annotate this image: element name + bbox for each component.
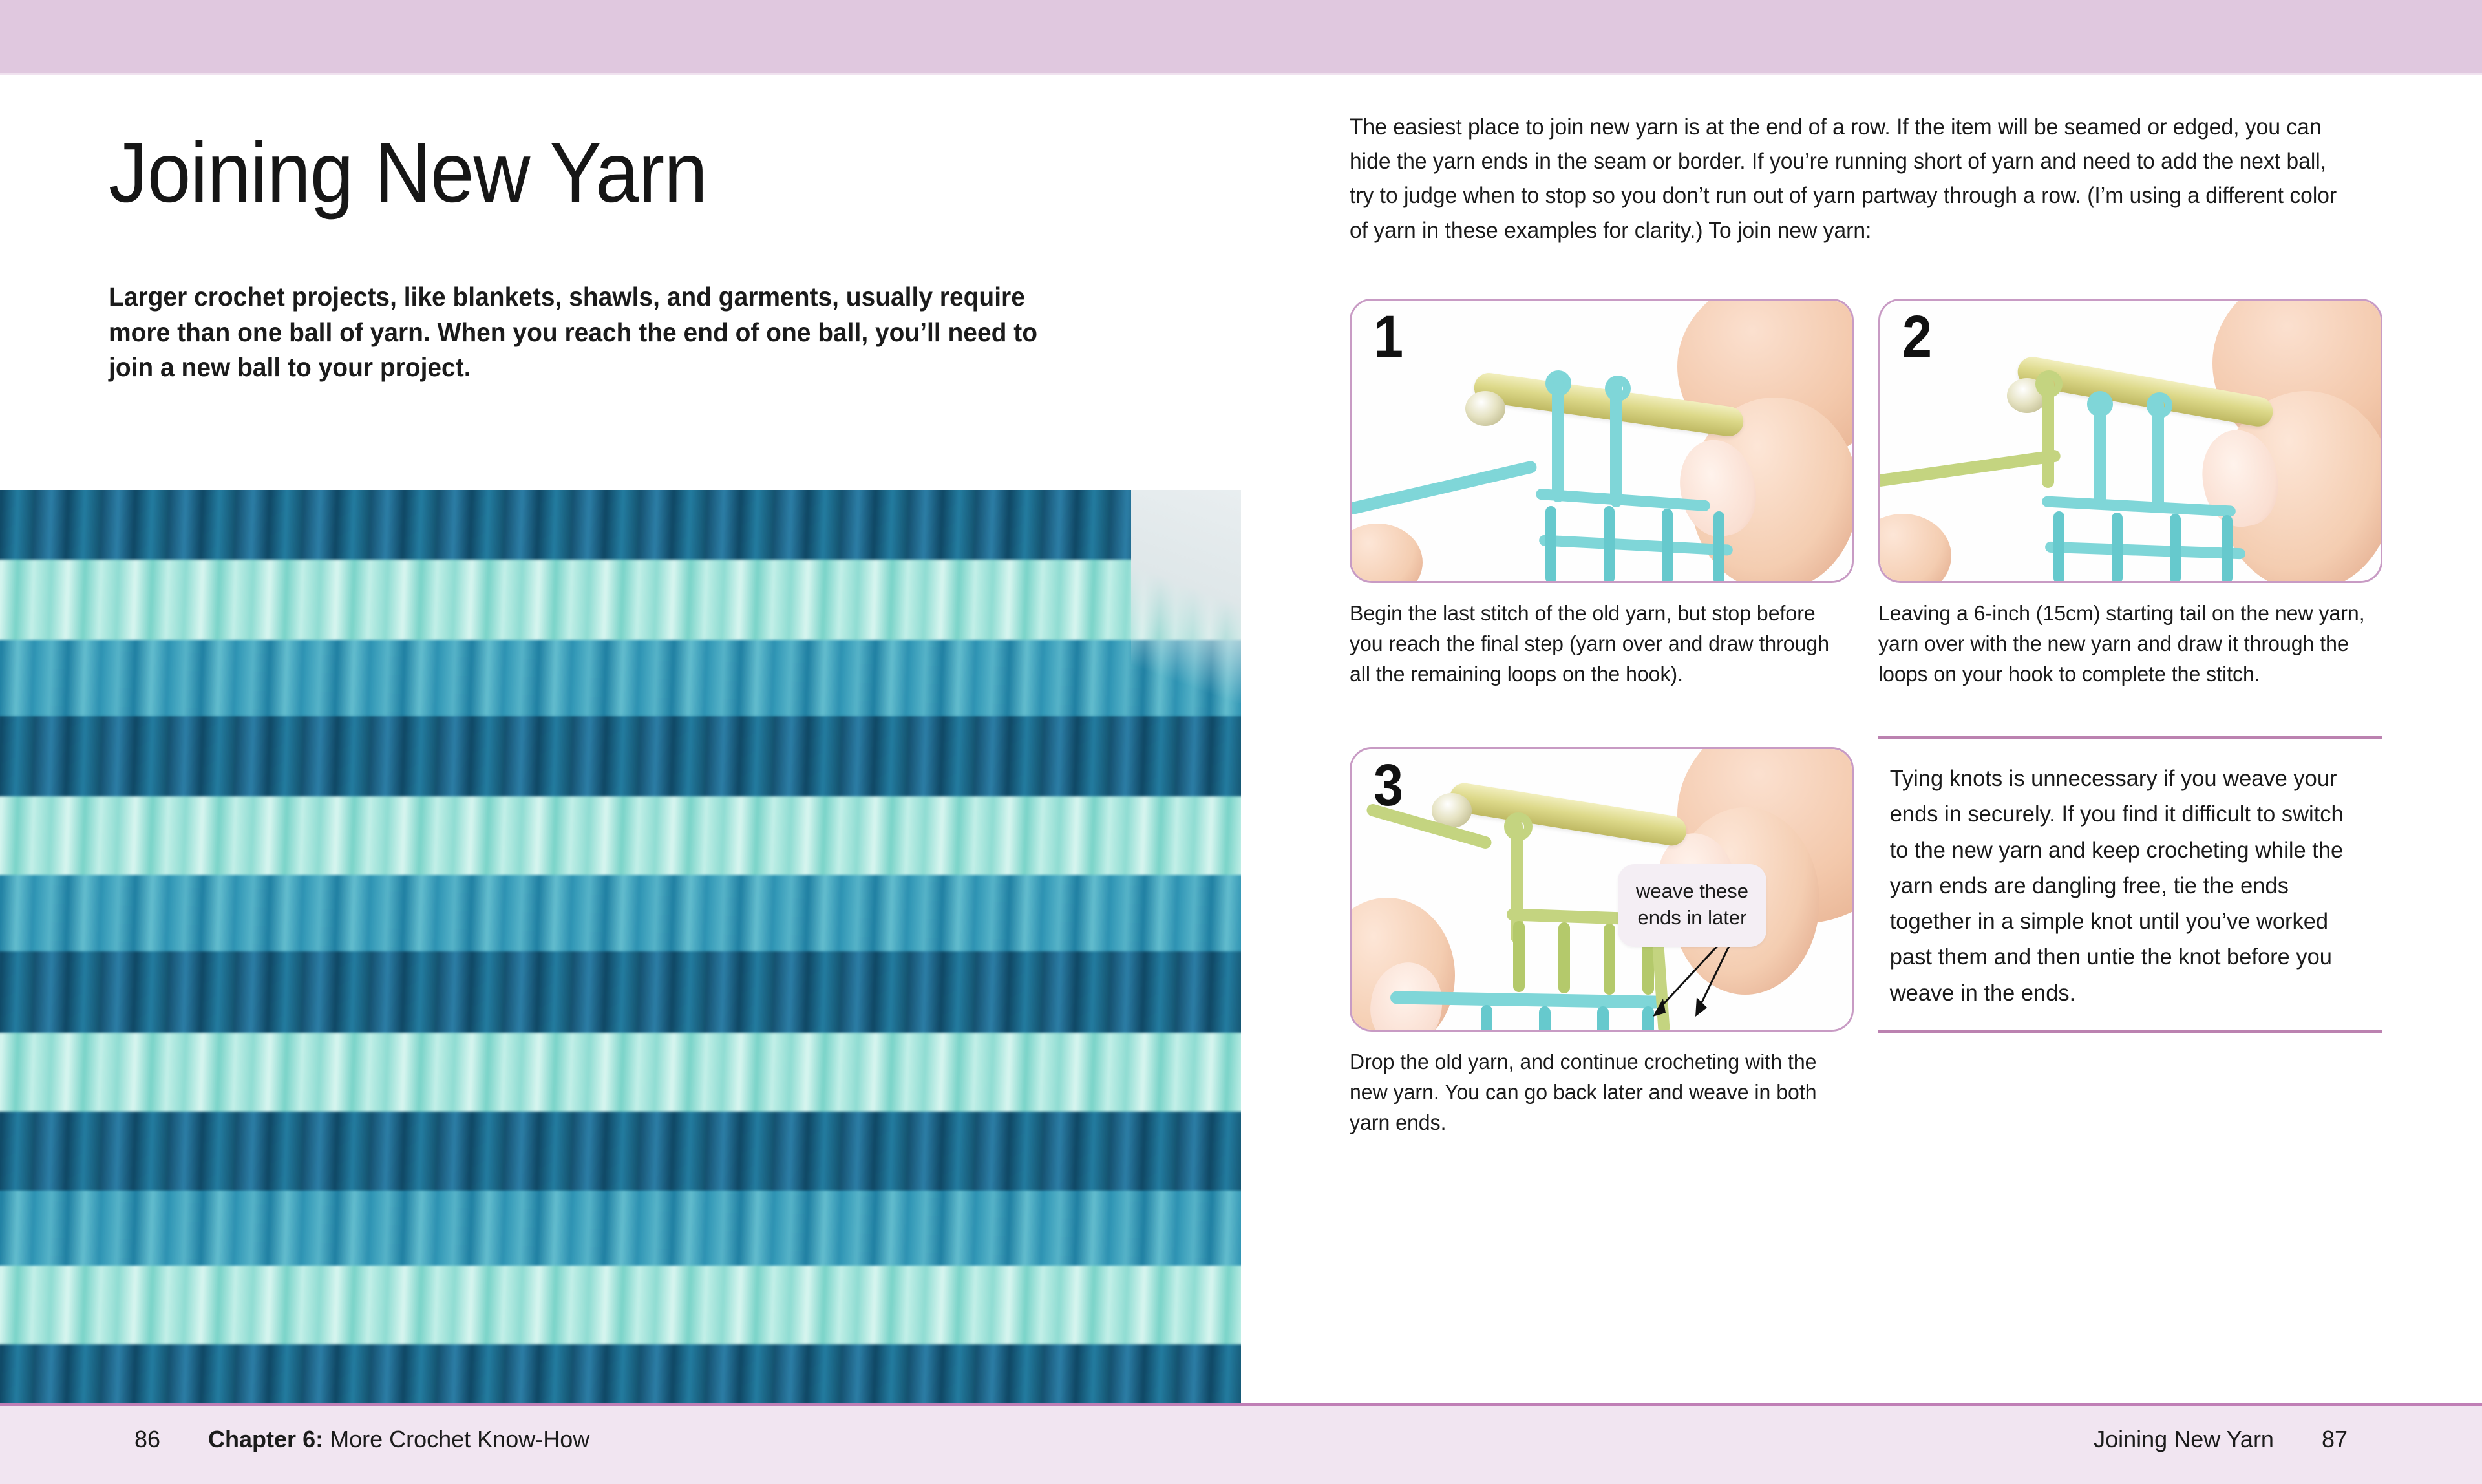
crochet-blanket-photo xyxy=(0,490,1241,1403)
right-page-number: 87 xyxy=(2322,1426,2348,1453)
left-chapter-title: More Crochet Know-How xyxy=(323,1426,589,1452)
step-card-2: 2 Leaving a 6-inch (15cm) starting tail … xyxy=(1878,299,2382,690)
footer-left: 86Chapter 6: More Crochet Know-How xyxy=(134,1426,589,1453)
step-2-scene xyxy=(1880,301,2381,581)
step-3-photo: weave these ends in later 3 xyxy=(1350,747,1854,1032)
book-spread: Joining New Yarn Larger crochet projects… xyxy=(0,0,2482,1484)
left-chapter-label: Chapter 6: xyxy=(208,1426,323,1452)
step-3-caption: Drop the old yarn, and continue crocheti… xyxy=(1350,1047,1839,1138)
step-2-number: 2 xyxy=(1902,307,1932,366)
tip-box: Tying knots is unnecessary if you weave … xyxy=(1878,736,2382,1033)
step-1-number: 1 xyxy=(1374,307,1403,366)
step-3-number: 3 xyxy=(1374,756,1403,815)
step-2-caption: Leaving a 6-inch (15cm) starting tail on… xyxy=(1878,599,2368,690)
intro-paragraph: Larger crochet projects, like blankets, … xyxy=(109,279,1066,385)
step-card-3: weave these ends in later 3 Drop the old… xyxy=(1350,747,1854,1138)
step-2-photo: 2 xyxy=(1878,299,2382,583)
lead-paragraph: The easiest place to join new yarn is at… xyxy=(1350,110,2342,248)
blanket-texture xyxy=(0,490,1241,1403)
step-1-scene xyxy=(1352,301,1852,581)
weave-ends-callout: weave these ends in later xyxy=(1618,864,1766,947)
page-title: Joining New Yarn xyxy=(109,130,707,215)
left-page-number: 86 xyxy=(134,1426,160,1453)
photo-highlight xyxy=(1131,490,1241,703)
step-1-caption: Begin the last stitch of the old yarn, b… xyxy=(1350,599,1839,690)
step-3-scene xyxy=(1352,749,1852,1030)
right-page: The easiest place to join new yarn is at… xyxy=(1241,75,2482,1403)
step-card-1: 1 Begin the last stitch of the old yarn,… xyxy=(1350,299,1854,690)
tip-rule-bottom xyxy=(1878,1030,2382,1033)
header-band xyxy=(0,0,2482,73)
footer-right: Joining New Yarn87 xyxy=(2094,1426,2348,1453)
right-section-title: Joining New Yarn xyxy=(2094,1426,2274,1453)
left-page: Joining New Yarn Larger crochet projects… xyxy=(0,75,1241,1403)
tip-text: Tying knots is unnecessary if you weave … xyxy=(1878,739,2375,1030)
step-1-photo: 1 xyxy=(1350,299,1854,583)
